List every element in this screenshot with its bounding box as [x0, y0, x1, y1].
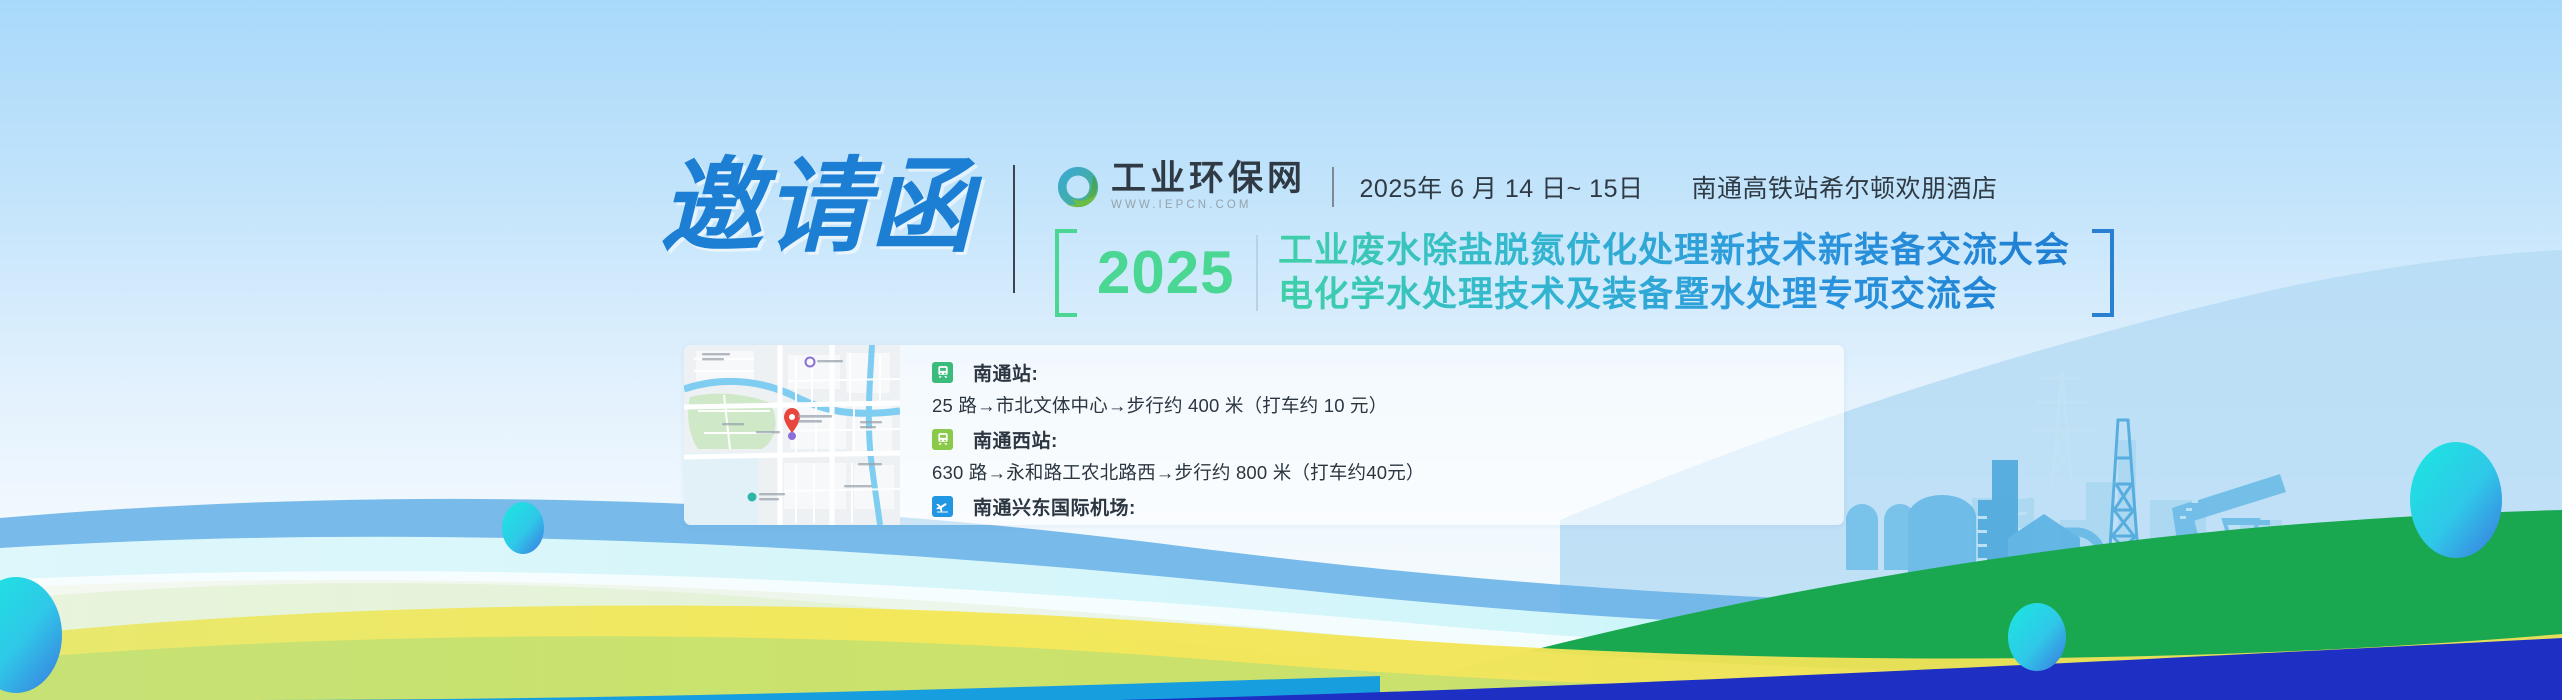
event-invitation-banner: 邀请函 — [0, 0, 2562, 700]
map-graphic — [684, 345, 900, 525]
event-date: 2025年 6 月 14 日~ 15日 — [1360, 169, 1644, 205]
route-name: 南通站: — [973, 359, 1038, 386]
deco-circle-medium — [2008, 603, 2066, 671]
header-divider — [1013, 165, 1015, 293]
header-right-column: 工业环保网 WWW.IEPCN.COM 2025年 6 月 14 日~ 15日 … — [1055, 155, 2114, 317]
conference-title-block: 2025 工业废水除盐脱氮优化处理新技术新装备交流大会 电化学水处理技术及装备暨… — [1055, 229, 2114, 317]
airplane-icon — [932, 496, 953, 517]
banner-header: 邀请函 — [660, 155, 2114, 317]
conference-title-line2: 电化学水处理技术及装备暨水处理专项交流会 — [1278, 273, 2070, 317]
train-icon — [932, 429, 953, 450]
route-list: 南通站: 25 路→市北文体中心→步行约 400 米（打车约 10 元） 南通西… — [900, 345, 1844, 525]
train-glyph — [936, 365, 950, 379]
route-description: 25 路→市北文体中心→步行约 400 米（打车约 10 元） — [932, 392, 1844, 418]
deco-circle-large — [2410, 442, 2502, 558]
page-title: 邀请函 — [660, 155, 975, 258]
event-year: 2025 — [1077, 229, 1256, 317]
list-item: 南通兴东国际机场: 622 路→崇川大桥北→25 路→市北文体中心→步行约 40… — [932, 493, 1844, 525]
airplane-glyph — [935, 499, 950, 514]
brand-logo: 工业环保网 WWW.IEPCN.COM — [1055, 161, 1306, 214]
location-map[interactable] — [684, 345, 900, 525]
circle-leaf-logo-icon — [1055, 164, 1101, 210]
route-name: 南通西站: — [973, 426, 1058, 453]
brand-name-cn: 工业环保网 — [1111, 161, 1306, 198]
transport-info-card: 南通站: 25 路→市北文体中心→步行约 400 米（打车约 10 元） 南通西… — [684, 345, 1844, 525]
train-glyph — [936, 432, 950, 446]
bracket-left-icon — [1055, 229, 1077, 317]
conference-title-line1: 工业废水除盐脱氮优化处理新技术新装备交流大会 — [1278, 229, 2070, 273]
route-description: 630 路→永和路工农北路西→步行约 800 米（打车约40元） — [932, 459, 1844, 485]
brand-meta-row: 工业环保网 WWW.IEPCN.COM 2025年 6 月 14 日~ 15日 … — [1055, 159, 2114, 215]
meta-separator — [1332, 167, 1334, 207]
list-item: 南通站: 25 路→市北文体中心→步行约 400 米（打车约 10 元） — [932, 359, 1844, 418]
train-icon — [932, 362, 953, 383]
bracket-right-icon — [2092, 229, 2114, 317]
event-venue: 南通高铁站希尔顿欢朋酒店 — [1691, 169, 1997, 205]
list-item: 南通西站: 630 路→永和路工农北路西→步行约 800 米（打车约40元） — [932, 426, 1844, 485]
deco-circle-small — [502, 502, 544, 554]
route-name: 南通兴东国际机场: — [973, 493, 1136, 520]
brand-name-en: WWW.IEPCN.COM — [1111, 199, 1306, 213]
conference-separator — [1256, 235, 1258, 311]
